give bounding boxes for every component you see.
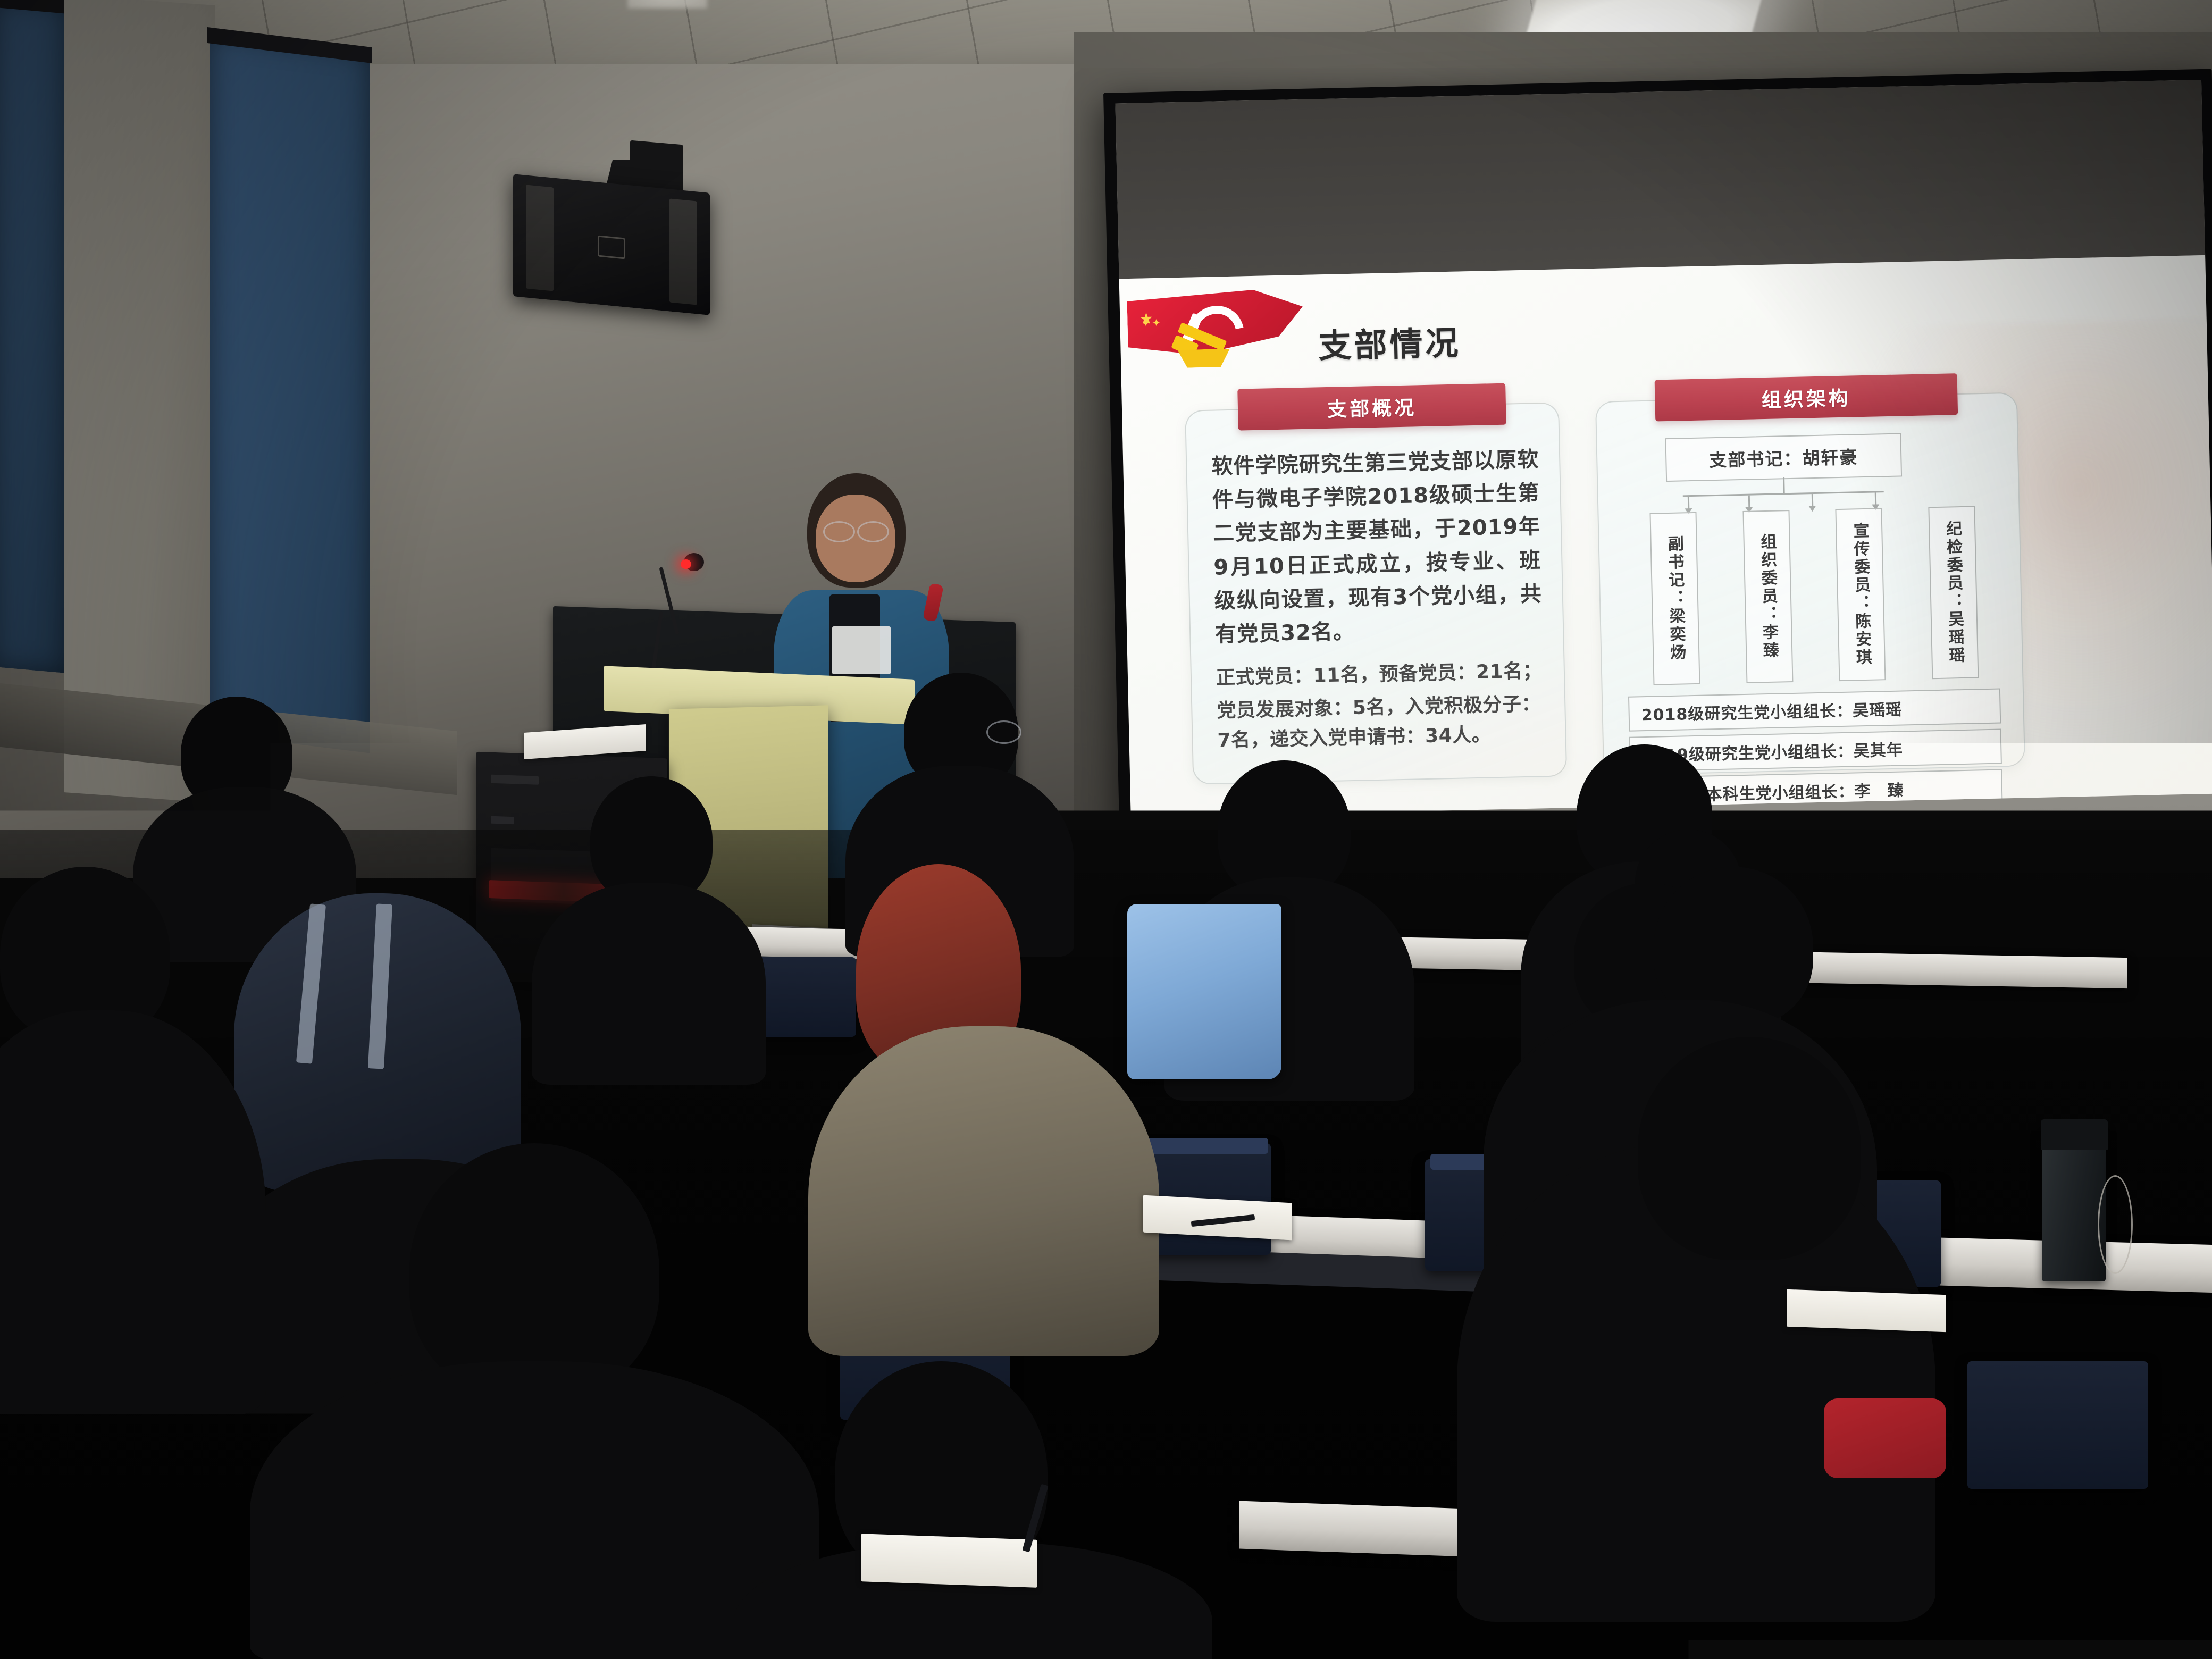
flag-ribbon-graphic: ★ ✦✦ [1127,284,1320,381]
org-root-box: 支部书记：胡轩豪 [1665,433,1902,482]
org-structure-panel: 组织架构 支部书记：胡轩豪 [1595,392,2025,776]
wall-column [64,0,215,803]
branch-overview-panel: 支部概况 软件学院研究生第三党支部以原软件与微电子学院2018级硕士生第二党支部… [1185,402,1567,784]
emblem-base [1174,349,1234,368]
org-committee-box-3: 宣传委员：陈安琪 [1836,508,1886,681]
org-committee-box-4: 纪检委员：吴瑶瑶 [1928,506,1979,679]
student-head-front-center [409,1143,659,1398]
ceiling-light-secondary [627,0,707,9]
student-glasses-center [986,720,1021,744]
branch-stats-line-1: 正式党员：11名，预备党员：21名； [1216,656,1544,693]
classroom-photo: ★ ✦✦ 支部情况 支部概况 [0,0,2212,1659]
org-committee-box-1: 副书记：梁奕炀 [1649,512,1700,685]
org-connector-lines [1666,474,1900,512]
student-body-row1-b [532,883,766,1085]
org-committee-box-2: 组织委员：李臻 [1742,510,1793,683]
org-group-row-1: 2018级研究生党小组组长：吴瑶瑶 [1628,688,2001,731]
presentation-slide: ★ ✦✦ 支部情况 支部概况 [1119,255,2212,817]
window-blind-left [0,0,66,673]
wall-speaker [513,174,710,315]
chair-6 [1967,1361,2148,1489]
notebook-front [861,1534,1037,1588]
org-drop-2 [1748,496,1750,510]
org-drop-1 [1687,497,1689,511]
party-emblem-icon [1169,303,1242,371]
flag-stars-small: ✦✦ [1141,317,1162,329]
student-head-right-front [1638,1037,1861,1260]
speaker-badge [598,235,625,259]
thermos-wrist-strap [2098,1175,2133,1274]
red-item-on-chair [1824,1398,1946,1478]
org-drop-3 [1812,494,1814,508]
slide-title: 支部情况 [1318,316,1461,367]
blue-jacket-on-chair [1127,904,1281,1079]
presenter-name-badge [832,626,891,674]
branch-overview-header: 支部概况 [1237,383,1506,431]
presenter-glasses-left [823,521,855,542]
student-tan-coat [808,1026,1159,1356]
lecture-room: ★ ✦✦ 支部情况 支部概况 [0,0,2212,1659]
org-chart: 支部书记：胡轩豪 副书记：梁奕炀 组织委员 [1613,431,2008,763]
thermos-bottle [2042,1127,2106,1281]
branch-stats-line-2: 党员发展对象：5名，入党积极分子：7名，递交入党申请书：34人。 [1217,689,1545,756]
thermos-cap [2041,1119,2108,1150]
microphone-led-indicator [681,559,691,569]
notebook-right [1787,1289,1946,1332]
letterbox-band-top [1115,80,2205,279]
org-drop-4 [1874,492,1876,507]
branch-overview-paragraph: 软件学院研究生第三党支部以原软件与微电子学院2018级硕士生第二党支部为主要基础… [1211,443,1543,651]
presenter-glasses-right [857,521,889,542]
window-blind-right [210,32,370,753]
org-structure-header: 组织架构 [1655,373,1958,421]
org-committee-row: 副书记：梁奕炀 组织委员：李臻 宣传委员：陈安琪 纪检委员：吴瑶瑶 [1649,506,1979,683]
speaker-grill-right [669,198,697,305]
speaker-grill-left [526,185,554,291]
rack-indicator-strip [491,775,539,785]
org-trunk-line [1783,477,1785,493]
branch-overview-body: 软件学院研究生第三党支部以原软件与微电子学院2018级硕士生第二党支部为主要基础… [1211,443,1545,756]
student-body-front-center [250,1361,819,1659]
rack-button [491,816,514,825]
